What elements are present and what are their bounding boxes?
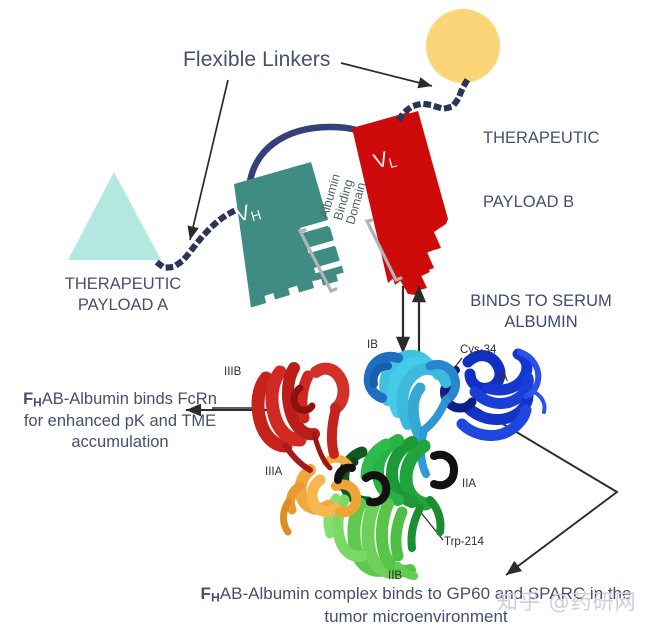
albumin-domain-IIIB (258, 368, 343, 470)
vl-domain-shape (352, 111, 448, 296)
therapeutic-payload-a-shape (68, 172, 161, 260)
therapeutic-payload-b-shape (426, 9, 500, 83)
domain-label-IIIA: IIIA (265, 466, 282, 478)
payload-b-line2: PAYLOAD B (483, 192, 599, 213)
therapeutic-payload-b-label: THERAPEUTIC PAYLOAD B (483, 86, 599, 255)
bottom-prefix: F (201, 584, 211, 603)
domain-label-IA: IA (497, 372, 508, 384)
binds-to-serum-albumin-label: BINDS TO SERUM ALBUMIN (446, 291, 636, 333)
domain-label-IIB: IIB (388, 570, 402, 582)
albumin-domain-IA (445, 352, 545, 436)
domain-label-IIA: IIA (462, 478, 476, 490)
flexible-linker-right (400, 79, 468, 118)
leader-arrow-linker-right (341, 63, 432, 86)
fcrn-rest: AB-Albumin binds FcRn for enhanced pK an… (24, 390, 217, 451)
therapeutic-payload-a-label: THERAPEUTIC PAYLOAD A (47, 274, 199, 316)
fcrn-subscript: H (33, 396, 42, 410)
watermark: 知乎 @药研网 (497, 586, 637, 616)
fcrn-annotation: FHAB-Albumin binds FcRn for enhanced pK … (22, 389, 218, 454)
residue-label-trp214: Trp-214 (444, 536, 484, 548)
payload-b-line1: THERAPEUTIC (483, 128, 599, 149)
residue-label-cys34: Cys-34 (460, 344, 496, 356)
fcrn-prefix: F (23, 390, 33, 408)
leader-arrow-bottom-caption (466, 402, 617, 575)
figure-canvas: Flexible Linkers THERAPEUTIC PAYLOAD B T… (0, 0, 655, 635)
domain-label-IB: IB (367, 339, 378, 351)
flexible-linkers-label: Flexible Linkers (183, 48, 331, 73)
bottom-subscript: H (211, 591, 220, 605)
albumin-ribbon-structure (258, 352, 545, 576)
binds-to-albumin-arrows (403, 286, 419, 353)
domain-label-IIIB: IIIB (224, 366, 241, 378)
